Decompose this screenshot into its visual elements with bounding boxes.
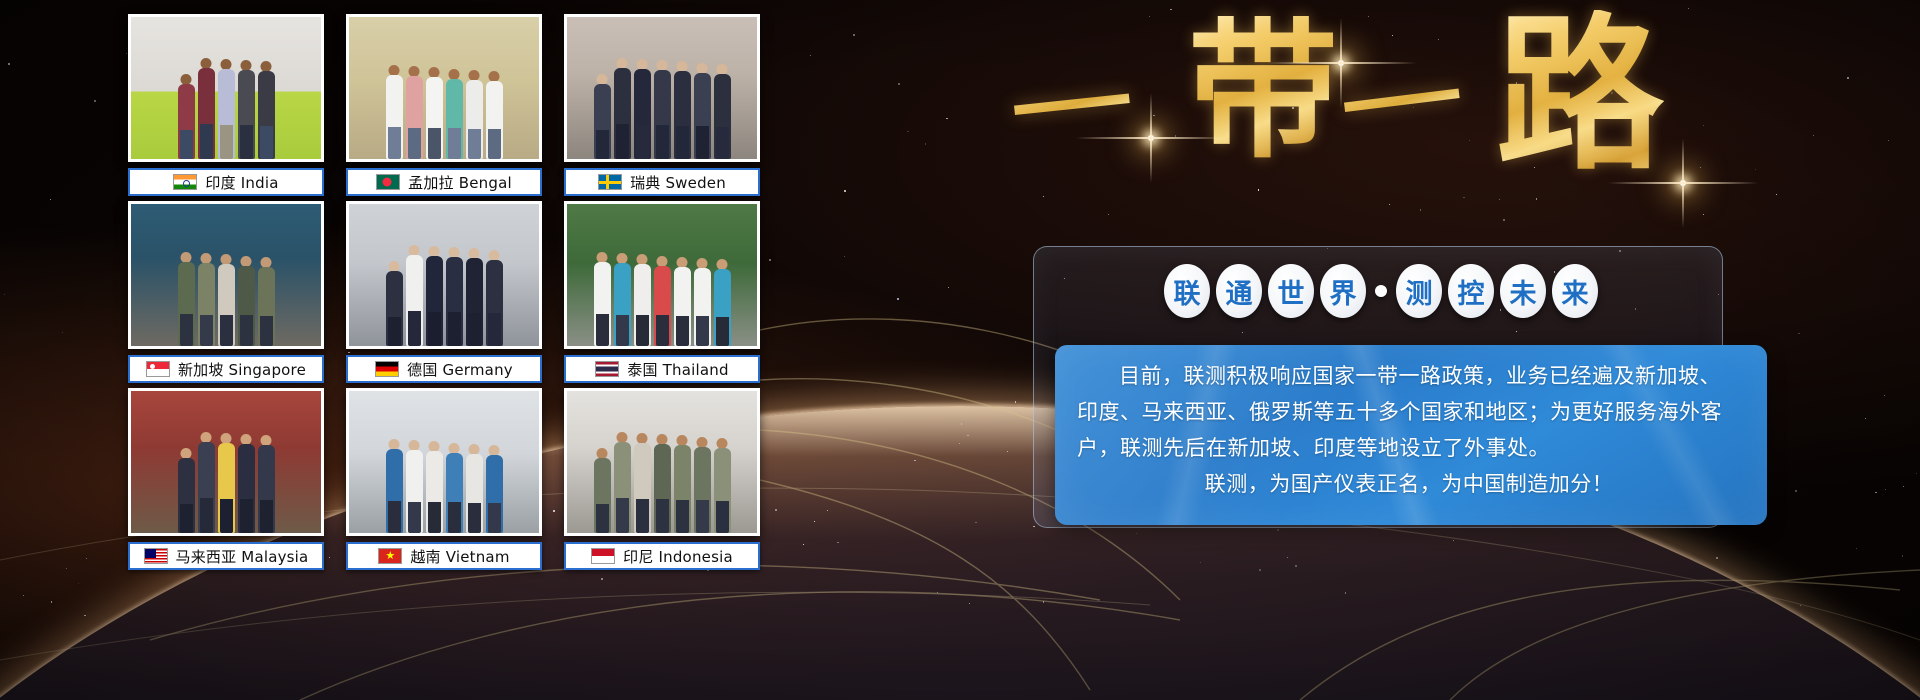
country-caption[interactable]: 印度 India bbox=[128, 168, 324, 196]
person-head bbox=[697, 63, 708, 74]
person-legs bbox=[696, 316, 709, 346]
photo-cell: 越南 Vietnam bbox=[346, 388, 542, 574]
person-torso bbox=[218, 264, 235, 346]
country-caption[interactable]: 印尼 Indonesia bbox=[564, 542, 760, 570]
person-torso bbox=[614, 68, 631, 159]
photo-image bbox=[131, 204, 321, 346]
bengal-flag bbox=[376, 174, 400, 190]
photo-cell: 新加坡 Singapore bbox=[128, 201, 324, 387]
person-legs bbox=[240, 499, 253, 533]
person-legs bbox=[260, 500, 273, 533]
person-legs bbox=[408, 502, 421, 533]
person-silhouette bbox=[466, 248, 483, 346]
person-silhouette bbox=[218, 254, 235, 346]
description-paragraph-1: 目前，联测积极响应国家一带一路政策，业务已经遍及新加坡、印度、马来西亚、俄罗斯等… bbox=[1077, 358, 1741, 466]
person-legs bbox=[200, 315, 213, 346]
person-head bbox=[449, 69, 460, 80]
person-legs bbox=[260, 316, 273, 346]
person-torso bbox=[466, 80, 483, 159]
slogan-char: 联 bbox=[1164, 264, 1210, 318]
person-silhouette bbox=[218, 433, 235, 533]
country-caption[interactable]: 新加坡 Singapore bbox=[128, 355, 324, 383]
person-silhouette bbox=[594, 74, 611, 159]
person-silhouette bbox=[486, 71, 503, 159]
person-silhouette bbox=[486, 250, 503, 346]
person-legs bbox=[488, 503, 501, 533]
person-silhouette bbox=[198, 432, 215, 533]
person-torso bbox=[674, 445, 691, 533]
person-torso bbox=[466, 454, 483, 533]
person-silhouette bbox=[674, 257, 691, 346]
slogan-char: 测 bbox=[1396, 264, 1442, 318]
country-photo bbox=[128, 14, 324, 162]
person-torso bbox=[594, 262, 611, 346]
person-silhouette bbox=[654, 434, 671, 533]
country-photo bbox=[564, 14, 760, 162]
person-head bbox=[181, 74, 192, 85]
person-legs bbox=[636, 125, 649, 159]
country-label: 德国 Germany bbox=[407, 359, 513, 380]
person-silhouette bbox=[406, 66, 423, 159]
person-legs bbox=[488, 313, 501, 346]
person-torso bbox=[258, 267, 275, 346]
slogan-char: 控 bbox=[1448, 264, 1494, 318]
company-slogan: 联通世界测控未来 bbox=[1164, 264, 1598, 318]
person-legs bbox=[200, 124, 213, 159]
person-legs bbox=[388, 127, 401, 159]
country-label: 马来西亚 Malaysia bbox=[176, 546, 309, 567]
person-silhouette bbox=[674, 435, 691, 533]
person-silhouette bbox=[614, 58, 631, 159]
person-torso bbox=[446, 257, 463, 346]
person-legs bbox=[428, 312, 441, 346]
person-silhouette bbox=[386, 261, 403, 346]
person-silhouette bbox=[258, 61, 275, 159]
photo-people bbox=[131, 411, 321, 533]
person-silhouette bbox=[238, 256, 255, 346]
photo-people bbox=[349, 224, 539, 346]
person-torso bbox=[386, 449, 403, 533]
person-legs bbox=[240, 125, 253, 159]
person-legs bbox=[260, 126, 273, 159]
person-legs bbox=[596, 314, 609, 346]
person-silhouette bbox=[258, 435, 275, 533]
person-torso bbox=[654, 444, 671, 533]
person-torso bbox=[238, 444, 255, 533]
person-silhouette bbox=[714, 259, 731, 346]
photo-cell: 德国 Germany bbox=[346, 201, 542, 387]
country-caption[interactable]: 越南 Vietnam bbox=[346, 542, 542, 570]
person-silhouette bbox=[178, 74, 195, 159]
person-silhouette bbox=[198, 58, 215, 159]
description-box: 目前，联测积极响应国家一带一路政策，业务已经遍及新加坡、印度、马来西亚、俄罗斯等… bbox=[1055, 345, 1767, 525]
country-caption[interactable]: 德国 Germany bbox=[346, 355, 542, 383]
person-silhouette bbox=[634, 254, 651, 346]
person-silhouette bbox=[674, 61, 691, 159]
country-label: 印尼 Indonesia bbox=[623, 546, 733, 567]
person-silhouette bbox=[386, 439, 403, 533]
person-silhouette bbox=[634, 59, 651, 159]
country-label: 新加坡 Singapore bbox=[178, 359, 306, 380]
person-legs bbox=[616, 498, 629, 533]
person-legs bbox=[428, 128, 441, 159]
person-legs bbox=[428, 502, 441, 533]
person-silhouette bbox=[446, 443, 463, 533]
person-silhouette bbox=[238, 60, 255, 159]
person-legs bbox=[388, 317, 401, 346]
photo-people bbox=[349, 37, 539, 159]
person-legs bbox=[180, 314, 193, 346]
photo-people bbox=[567, 411, 757, 533]
photo-image bbox=[567, 17, 757, 159]
person-legs bbox=[716, 317, 729, 346]
person-legs bbox=[676, 500, 689, 533]
person-legs bbox=[656, 499, 669, 533]
indonesia-flag bbox=[591, 548, 615, 564]
person-torso bbox=[406, 76, 423, 159]
country-label: 孟加拉 Bengal bbox=[408, 172, 512, 193]
person-legs bbox=[468, 313, 481, 346]
person-torso bbox=[198, 263, 215, 346]
photo-image bbox=[349, 17, 539, 159]
photo-cell: 孟加拉 Bengal bbox=[346, 14, 542, 200]
person-head bbox=[181, 448, 192, 459]
person-torso bbox=[634, 69, 651, 159]
vietnam-flag bbox=[378, 548, 402, 564]
person-legs bbox=[656, 125, 669, 159]
person-torso bbox=[178, 84, 195, 159]
person-head bbox=[241, 256, 252, 267]
person-legs bbox=[488, 129, 501, 159]
person-legs bbox=[616, 124, 629, 159]
banner-stage: 印度 India孟加拉 Bengal瑞典 Sweden新加坡 Singapore… bbox=[0, 0, 1920, 700]
person-legs bbox=[408, 311, 421, 346]
person-silhouette bbox=[406, 245, 423, 346]
person-silhouette bbox=[694, 258, 711, 346]
photo-people bbox=[567, 37, 757, 159]
country-photo-grid: 印度 India孟加拉 Bengal瑞典 Sweden新加坡 Singapore… bbox=[128, 14, 768, 584]
person-legs bbox=[388, 501, 401, 533]
country-label: 泰国 Thailand bbox=[627, 359, 728, 380]
person-silhouette bbox=[654, 256, 671, 346]
country-caption[interactable]: 马来西亚 Malaysia bbox=[128, 542, 324, 570]
person-legs bbox=[220, 499, 233, 533]
slogan-char: 来 bbox=[1552, 264, 1598, 318]
person-silhouette bbox=[466, 70, 483, 159]
person-torso bbox=[674, 267, 691, 346]
description-paragraph-2: 联测，为国产仪表正名，为中国制造加分！ bbox=[1077, 466, 1741, 502]
person-legs bbox=[696, 126, 709, 159]
person-torso bbox=[654, 266, 671, 346]
photo-cell: 泰国 Thailand bbox=[564, 201, 760, 387]
country-label: 越南 Vietnam bbox=[410, 546, 509, 567]
person-torso bbox=[466, 258, 483, 346]
person-torso bbox=[218, 69, 235, 159]
person-silhouette bbox=[426, 246, 443, 346]
person-silhouette bbox=[198, 253, 215, 346]
person-legs bbox=[448, 312, 461, 346]
person-legs bbox=[676, 126, 689, 159]
slogan-char: 未 bbox=[1500, 264, 1546, 318]
person-torso bbox=[714, 448, 731, 533]
person-legs bbox=[716, 501, 729, 533]
person-torso bbox=[446, 79, 463, 159]
person-silhouette bbox=[426, 441, 443, 533]
person-torso bbox=[486, 455, 503, 533]
sweden-flag bbox=[598, 174, 622, 190]
slogan-separator-dot bbox=[1375, 285, 1387, 297]
person-torso bbox=[178, 458, 195, 533]
person-silhouette bbox=[446, 247, 463, 346]
person-legs bbox=[180, 130, 193, 159]
person-head bbox=[389, 261, 400, 272]
person-silhouette bbox=[614, 432, 631, 533]
person-torso bbox=[238, 70, 255, 159]
country-photo bbox=[128, 388, 324, 536]
photo-image bbox=[131, 391, 321, 533]
person-legs bbox=[636, 499, 649, 533]
person-torso bbox=[486, 81, 503, 159]
country-photo bbox=[128, 201, 324, 349]
person-torso bbox=[386, 271, 403, 346]
malaysia-flag bbox=[144, 548, 168, 564]
person-torso bbox=[406, 255, 423, 346]
person-head bbox=[489, 250, 500, 261]
photo-image bbox=[567, 204, 757, 346]
germany-flag bbox=[375, 361, 399, 377]
person-head bbox=[449, 443, 460, 454]
person-legs bbox=[676, 316, 689, 346]
person-torso bbox=[594, 84, 611, 159]
person-torso bbox=[238, 266, 255, 346]
person-silhouette bbox=[714, 438, 731, 533]
person-torso bbox=[634, 264, 651, 346]
person-torso bbox=[426, 256, 443, 346]
photo-people bbox=[131, 37, 321, 159]
person-legs bbox=[616, 315, 629, 346]
person-torso bbox=[486, 260, 503, 346]
photo-people bbox=[349, 411, 539, 533]
person-torso bbox=[694, 447, 711, 533]
person-silhouette bbox=[654, 60, 671, 159]
person-legs bbox=[448, 502, 461, 533]
photo-image bbox=[131, 17, 321, 159]
person-silhouette bbox=[406, 440, 423, 533]
person-silhouette bbox=[446, 69, 463, 159]
person-torso bbox=[446, 453, 463, 533]
country-label: 瑞典 Sweden bbox=[630, 172, 726, 193]
person-torso bbox=[654, 70, 671, 159]
person-silhouette bbox=[386, 65, 403, 159]
person-legs bbox=[696, 500, 709, 533]
person-silhouette bbox=[634, 433, 651, 533]
person-silhouette bbox=[426, 67, 443, 159]
person-legs bbox=[448, 128, 461, 159]
person-legs bbox=[596, 504, 609, 533]
photo-people bbox=[567, 224, 757, 346]
photo-image bbox=[567, 391, 757, 533]
person-silhouette bbox=[694, 437, 711, 533]
country-photo bbox=[346, 388, 542, 536]
person-head bbox=[657, 256, 668, 267]
person-torso bbox=[694, 268, 711, 346]
person-silhouette bbox=[218, 59, 235, 159]
singapore-flag bbox=[146, 361, 170, 377]
person-torso bbox=[406, 450, 423, 533]
slogan-char: 界 bbox=[1320, 264, 1366, 318]
person-legs bbox=[220, 125, 233, 159]
country-caption[interactable]: 孟加拉 Bengal bbox=[346, 168, 542, 196]
slogan-char: 通 bbox=[1216, 264, 1262, 318]
person-silhouette bbox=[694, 63, 711, 159]
thailand-flag bbox=[595, 361, 619, 377]
photo-cell: 印度 India bbox=[128, 14, 324, 200]
photo-image bbox=[349, 204, 539, 346]
person-torso bbox=[386, 75, 403, 159]
person-torso bbox=[198, 442, 215, 533]
person-torso bbox=[426, 77, 443, 159]
person-torso bbox=[614, 263, 631, 346]
country-photo bbox=[346, 201, 542, 349]
person-silhouette bbox=[258, 257, 275, 346]
country-label: 印度 India bbox=[205, 172, 278, 193]
person-legs bbox=[468, 129, 481, 159]
person-head bbox=[597, 74, 608, 85]
person-silhouette bbox=[594, 448, 611, 533]
person-torso bbox=[674, 71, 691, 159]
person-silhouette bbox=[178, 448, 195, 533]
person-silhouette bbox=[614, 253, 631, 346]
photo-cell: 印尼 Indonesia bbox=[564, 388, 760, 574]
person-silhouette bbox=[594, 252, 611, 346]
person-torso bbox=[198, 68, 215, 159]
person-silhouette bbox=[466, 444, 483, 533]
india-flag bbox=[173, 174, 197, 190]
person-silhouette bbox=[486, 445, 503, 533]
slogan-char: 世 bbox=[1268, 264, 1314, 318]
person-silhouette bbox=[714, 64, 731, 159]
person-torso bbox=[178, 262, 195, 346]
person-legs bbox=[716, 127, 729, 159]
person-silhouette bbox=[238, 434, 255, 533]
photo-cell: 马来西亚 Malaysia bbox=[128, 388, 324, 574]
country-photo bbox=[346, 14, 542, 162]
person-legs bbox=[200, 498, 213, 533]
country-caption[interactable]: 瑞典 Sweden bbox=[564, 168, 760, 196]
person-legs bbox=[596, 130, 609, 159]
person-legs bbox=[656, 315, 669, 346]
person-silhouette bbox=[178, 252, 195, 346]
photo-image bbox=[349, 391, 539, 533]
person-torso bbox=[714, 269, 731, 346]
country-photo bbox=[564, 388, 760, 536]
person-torso bbox=[258, 445, 275, 533]
photo-people bbox=[131, 224, 321, 346]
person-torso bbox=[634, 443, 651, 533]
person-legs bbox=[408, 128, 421, 159]
person-legs bbox=[180, 504, 193, 533]
person-legs bbox=[468, 503, 481, 533]
person-torso bbox=[218, 443, 235, 533]
person-legs bbox=[636, 315, 649, 346]
person-torso bbox=[258, 71, 275, 159]
person-legs bbox=[240, 315, 253, 346]
person-head bbox=[597, 448, 608, 459]
person-torso bbox=[614, 442, 631, 533]
person-torso bbox=[694, 73, 711, 159]
person-torso bbox=[594, 458, 611, 533]
person-torso bbox=[426, 451, 443, 533]
country-caption[interactable]: 泰国 Thailand bbox=[564, 355, 760, 383]
country-photo bbox=[564, 201, 760, 349]
person-legs bbox=[220, 315, 233, 346]
person-head bbox=[697, 437, 708, 448]
photo-cell: 瑞典 Sweden bbox=[564, 14, 760, 200]
person-torso bbox=[714, 74, 731, 159]
